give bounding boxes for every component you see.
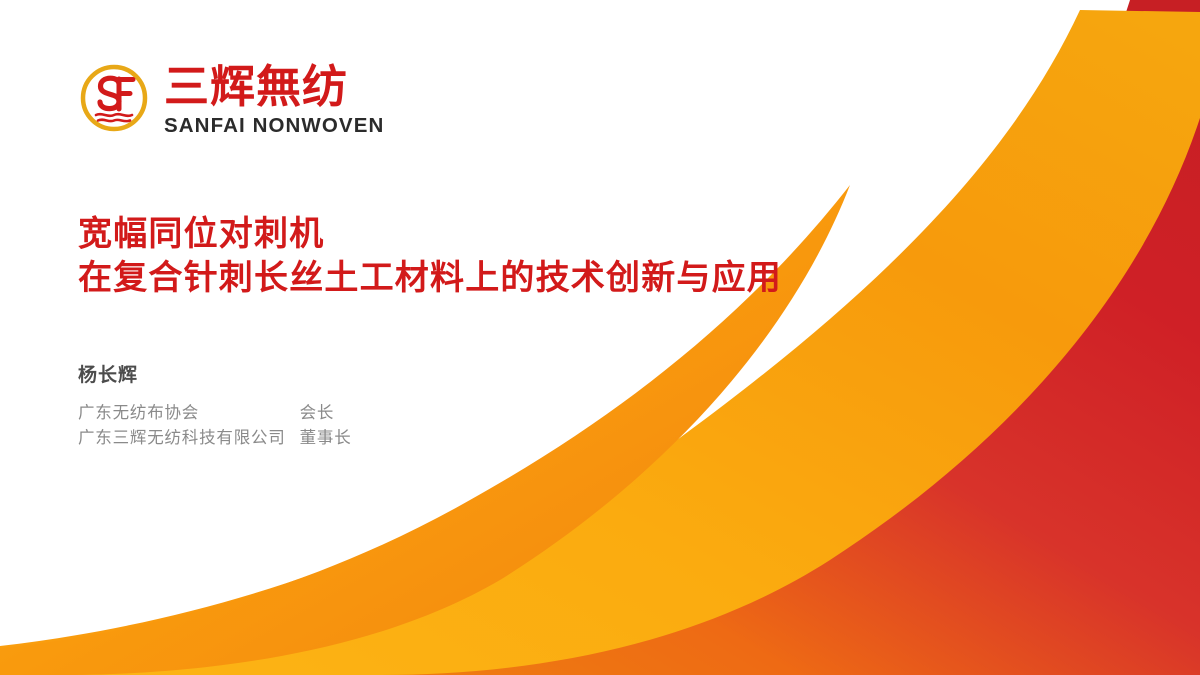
title-line-1: 宽幅同位对刺机 (78, 212, 1038, 256)
affiliation-row: 广东无纺布协会 会长 (78, 400, 352, 425)
author-block: 杨长辉 广东无纺布协会 会长 广东三辉无纺科技有限公司 董事长 (78, 362, 352, 450)
logo-wordmark: 三辉無纺 SANFAI NONWOVEN (164, 62, 384, 137)
affiliation-org: 广东无纺布协会 (78, 400, 286, 425)
sf-monogram-icon (78, 62, 150, 134)
affiliation-table: 广东无纺布协会 会长 广东三辉无纺科技有限公司 董事长 (78, 400, 352, 450)
company-logo: 三辉無纺 SANFAI NONWOVEN (78, 62, 384, 137)
affiliation-org: 广东三辉无纺科技有限公司 (78, 425, 286, 450)
logo-english-name: SANFAI NONWOVEN (164, 115, 384, 137)
logo-chinese-name: 三辉無纺 (164, 62, 384, 112)
affiliation-row: 广东三辉无纺科技有限公司 董事长 (78, 425, 352, 450)
affiliation-role: 董事长 (286, 425, 352, 450)
slide-root: 三辉無纺 SANFAI NONWOVEN 宽幅同位对刺机 在复合针刺长丝土工材料… (0, 0, 1200, 675)
affiliation-role: 会长 (286, 400, 352, 425)
page-title: 宽幅同位对刺机 在复合针刺长丝土工材料上的技术创新与应用 (78, 212, 1038, 300)
title-line-2: 在复合针刺长丝土工材料上的技术创新与应用 (78, 256, 1038, 300)
author-name: 杨长辉 (78, 362, 352, 388)
